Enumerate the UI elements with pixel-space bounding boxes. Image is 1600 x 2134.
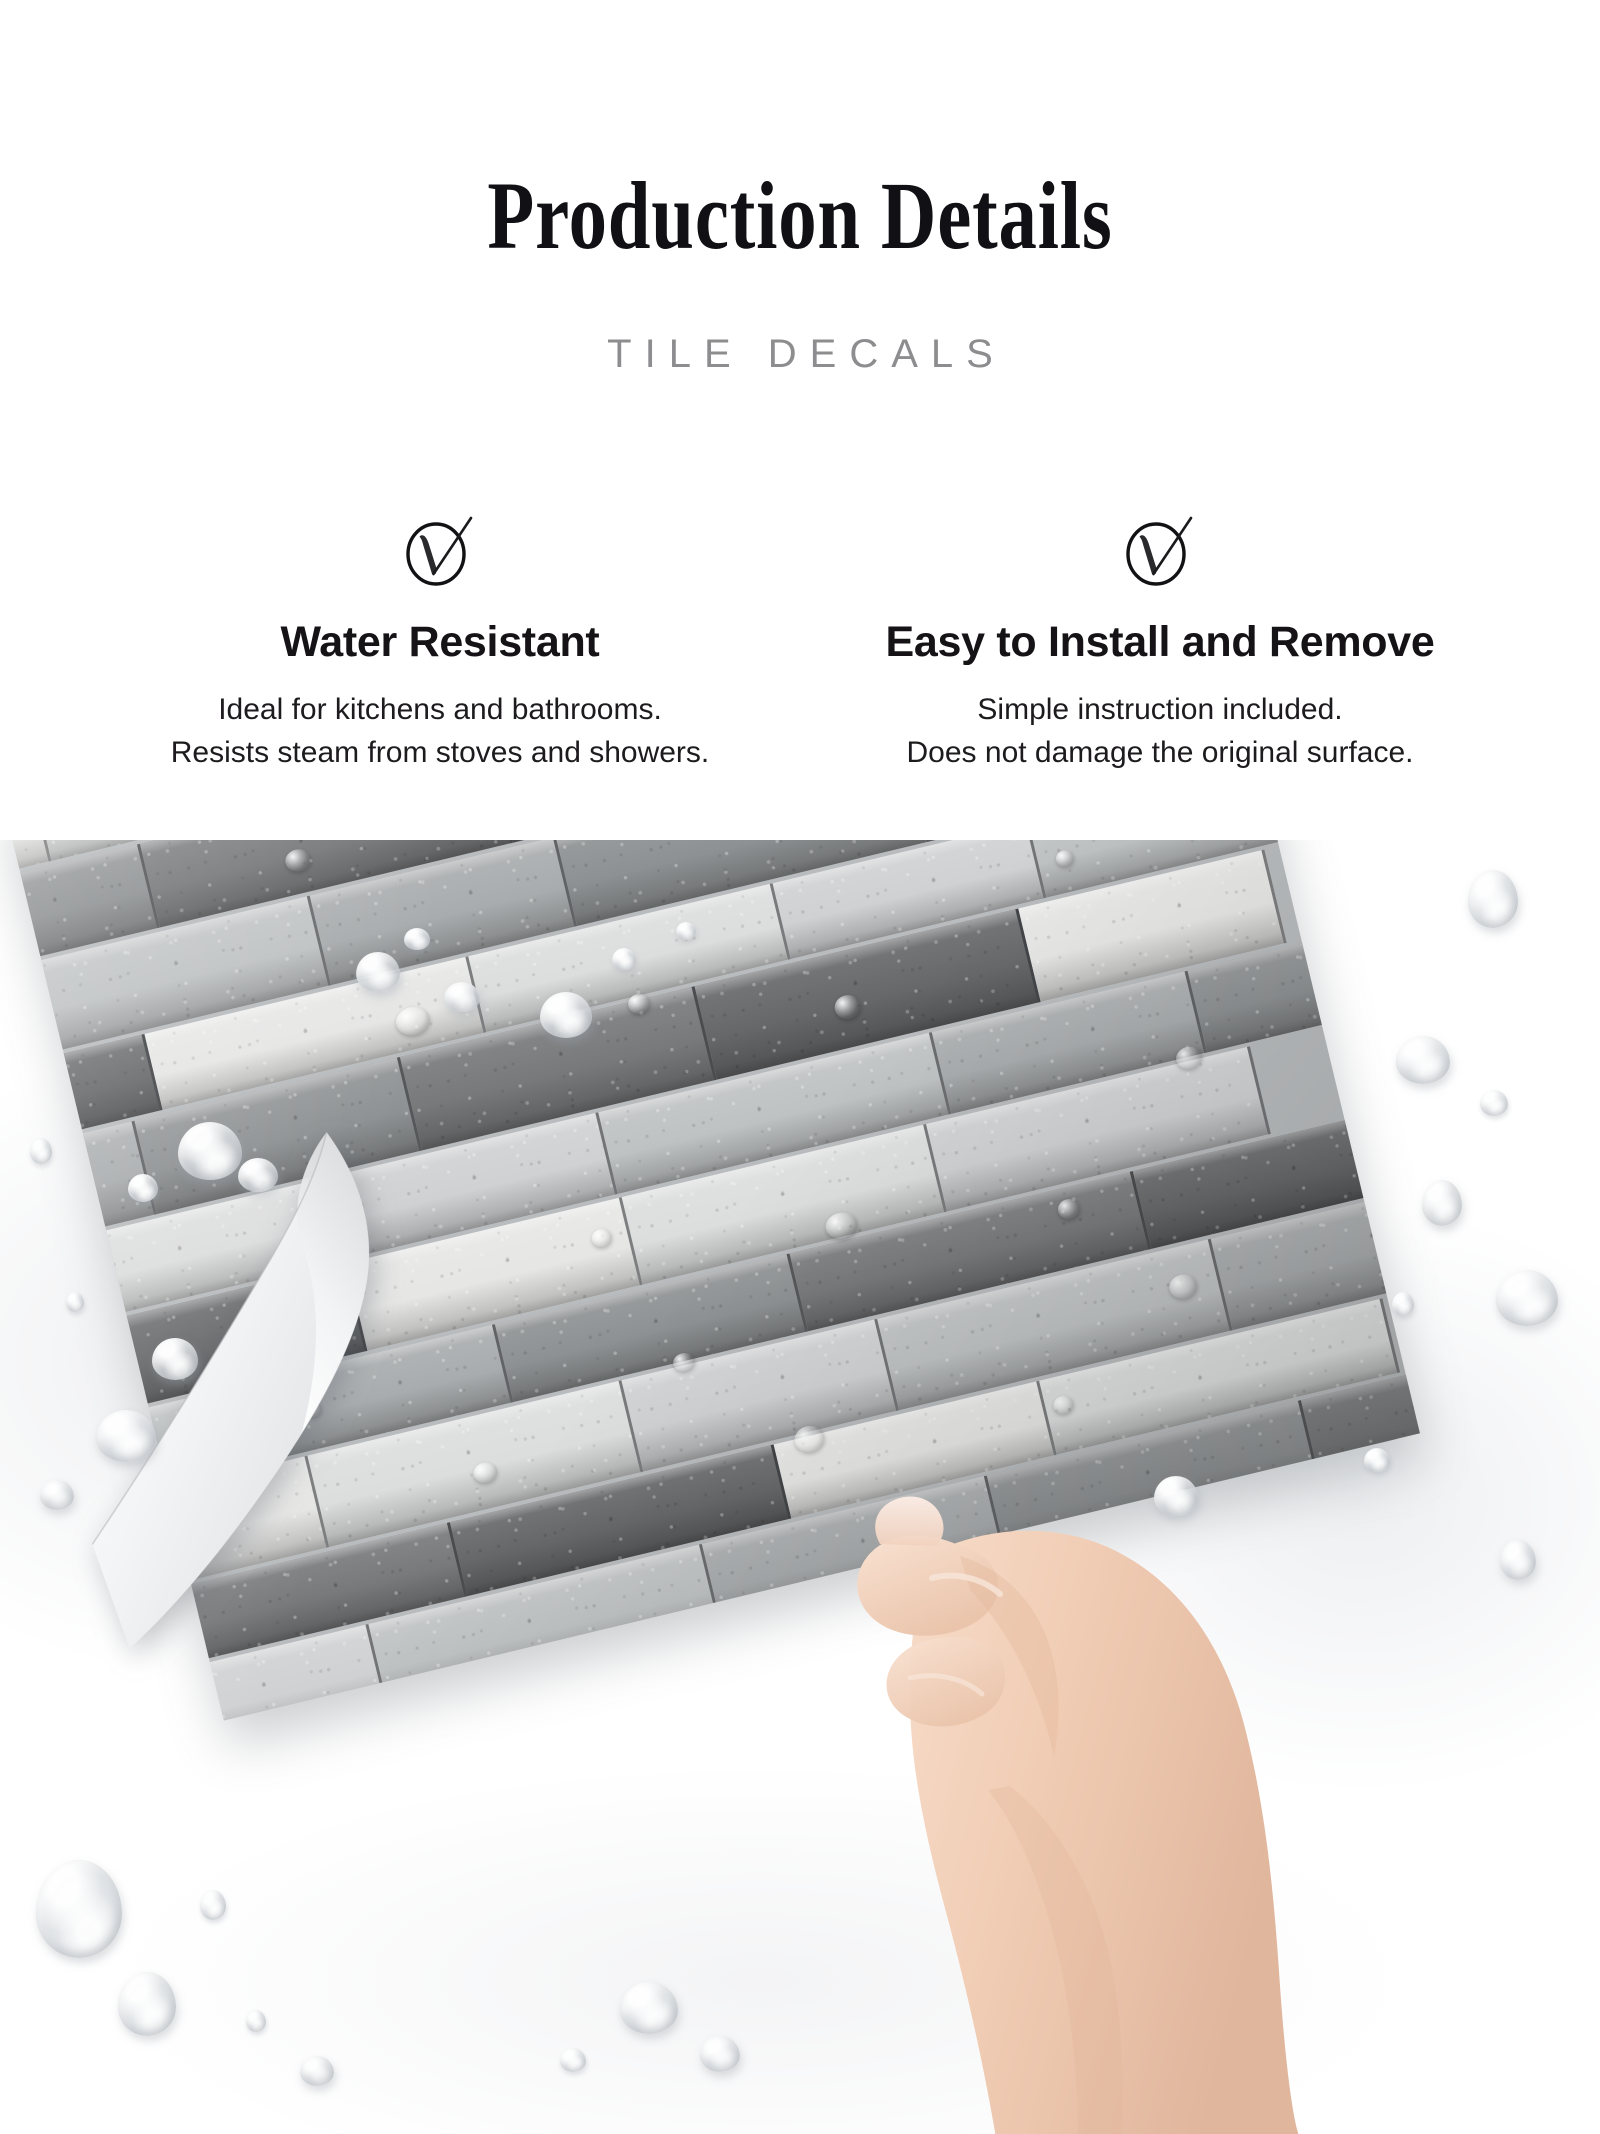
feature-easy-install: Easy to Install and Remove Simple instru…	[760, 500, 1560, 774]
circle-check-icon	[760, 500, 1560, 600]
feature-line: Resists steam from stoves and showers.	[40, 732, 840, 775]
feature-list: Water Resistant Ideal for kitchens and b…	[0, 500, 1600, 820]
circle-check-icon	[40, 500, 840, 600]
product-photo	[0, 840, 1600, 2134]
feature-description: Simple instruction included. Does not da…	[760, 689, 1560, 774]
page-subtitle: TILE DECALS	[0, 332, 1600, 377]
feature-line: Ideal for kitchens and bathrooms.	[40, 689, 840, 732]
feature-water-resistant: Water Resistant Ideal for kitchens and b…	[40, 500, 840, 774]
feature-description: Ideal for kitchens and bathrooms. Resist…	[40, 689, 840, 774]
feature-line: Simple instruction included.	[760, 689, 1560, 732]
feature-title: Easy to Install and Remove	[760, 618, 1560, 667]
poster-canvas: Production Details TILE DECALS Water Res…	[0, 0, 1600, 2134]
page-title: Production Details	[160, 168, 1440, 264]
feature-title: Water Resistant	[40, 618, 840, 667]
feature-line: Does not damage the original surface.	[760, 732, 1560, 775]
hand-holding-sheet	[760, 1226, 1320, 2134]
